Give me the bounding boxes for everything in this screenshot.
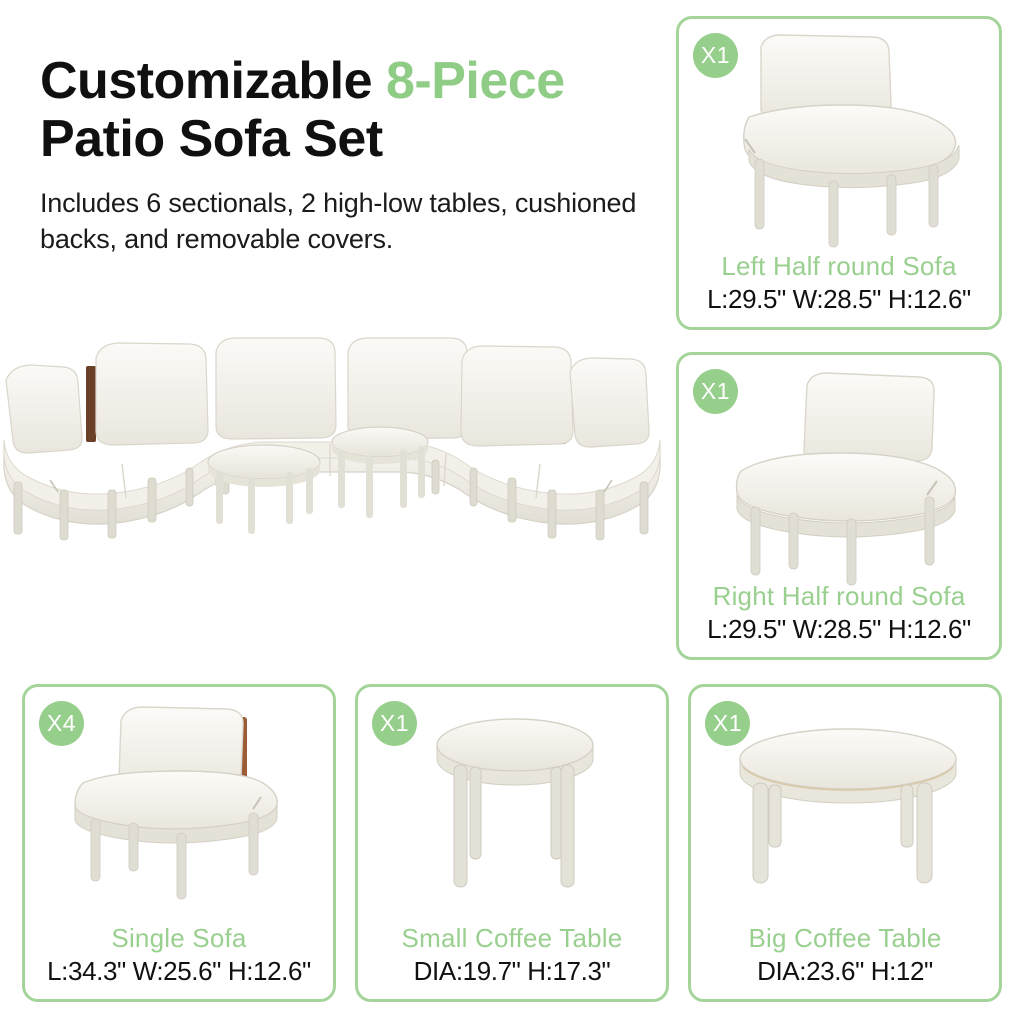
card-dimensions: L:29.5" W:28.5" H:12.6": [679, 614, 999, 645]
quantity-badge: X1: [693, 33, 738, 78]
card-caption: Right Half round Sofa L:29.5" W:28.5" H:…: [679, 581, 999, 645]
card-product-name: Right Half round Sofa: [679, 581, 999, 612]
quantity-badge: X1: [372, 701, 417, 746]
infographic-canvas: Customizable 8-PiecePatio Sofa Set Inclu…: [0, 0, 1024, 1024]
page-title: Customizable 8-PiecePatio Sofa Set: [40, 52, 660, 168]
back-cushions: [6, 338, 649, 453]
title-line2: Patio Sofa Set: [40, 110, 383, 168]
quantity-badge: X1: [693, 369, 738, 414]
card-caption: Single Sofa L:34.3" W:25.6" H:12.6": [25, 923, 333, 987]
quantity-badge: X4: [39, 701, 84, 746]
headline-block: Customizable 8-PiecePatio Sofa Set Inclu…: [40, 52, 660, 257]
card-dimensions: DIA:19.7" H:17.3": [358, 956, 666, 987]
card-caption: Big Coffee Table DIA:23.6" H:12": [691, 923, 999, 987]
card-dimensions: L:34.3" W:25.6" H:12.6": [25, 956, 333, 987]
page-subtitle: Includes 6 sectionals, 2 high-low tables…: [40, 186, 660, 256]
card-dimensions: L:29.5" W:28.5" H:12.6": [679, 284, 999, 315]
product-card-big-coffee-table[interactable]: X1 Big Coffee Table DIA:23.6" H:12": [688, 684, 1002, 1002]
sofa-set-illustration: [0, 332, 664, 542]
title-main: Customizable: [40, 52, 386, 110]
quantity-badge: X1: [705, 701, 750, 746]
product-card-right-half-sofa[interactable]: X1 Right Half round Sofa L:29.5" W:28.5"…: [676, 352, 1002, 660]
card-caption: Small Coffee Table DIA:19.7" H:17.3": [358, 923, 666, 987]
title-accent: 8-Piece: [386, 52, 565, 110]
card-product-name: Big Coffee Table: [691, 923, 999, 954]
card-product-name: Single Sofa: [25, 923, 333, 954]
product-card-small-coffee-table[interactable]: X1 Small Coffee Table DIA:19.7" H:17.3": [355, 684, 669, 1002]
product-card-single-sofa[interactable]: X4 Single Sofa L:34.3" W:25.6" H:12.6": [22, 684, 336, 1002]
card-dimensions: DIA:23.6" H:12": [691, 956, 999, 987]
card-product-name: Small Coffee Table: [358, 923, 666, 954]
curved-seat: [4, 440, 660, 524]
hero-sofa-set-image: [0, 332, 664, 542]
product-card-left-half-sofa[interactable]: X1 Left Half round Sofa L:29.5" W:28.5" …: [676, 16, 1002, 330]
card-product-name: Left Half round Sofa: [679, 251, 999, 282]
card-caption: Left Half round Sofa L:29.5" W:28.5" H:1…: [679, 251, 999, 315]
